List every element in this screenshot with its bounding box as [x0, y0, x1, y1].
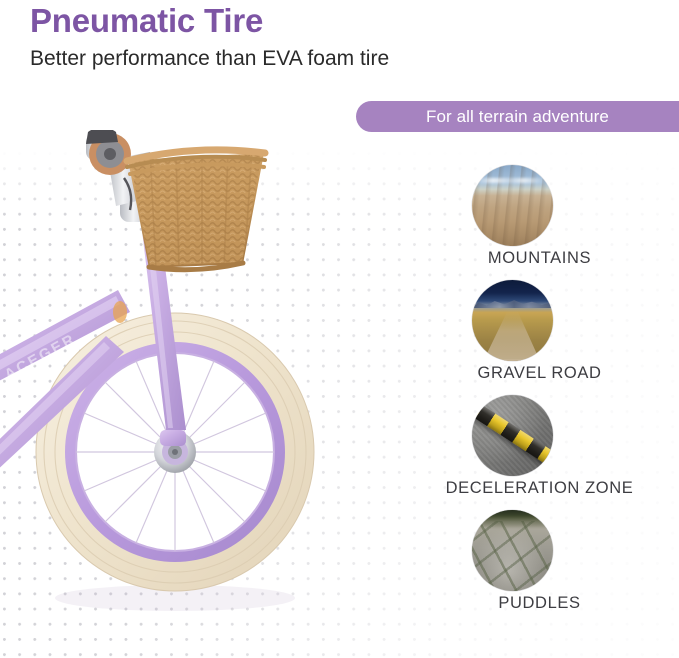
- terrain-label: PUDDLES: [400, 594, 679, 613]
- terrain-item-deceleration-zone[interactable]: DECELERATION ZONE: [400, 395, 679, 510]
- heading-block: Pneumatic Tire Better performance than E…: [30, 2, 650, 71]
- terrain-item-puddles[interactable]: PUDDLES: [400, 510, 679, 625]
- terrain-item-mountains[interactable]: MOUNTAINS: [400, 165, 679, 280]
- deceleration-zone-thumbnail-icon: [472, 395, 553, 476]
- terrain-label: MOUNTAINS: [400, 249, 679, 268]
- puddles-thumbnail-icon: [472, 510, 553, 591]
- terrain-label: GRAVEL ROAD: [400, 364, 679, 383]
- product-feature-panel: Pneumatic Tire Better performance than E…: [0, 0, 679, 658]
- terrain-label: DECELERATION ZONE: [400, 479, 679, 498]
- gravel-road-thumbnail-icon: [472, 280, 553, 361]
- mountains-thumbnail-icon: [472, 165, 553, 246]
- bicycle-illustration: ACEGER: [0, 130, 350, 630]
- page-title: Pneumatic Tire: [30, 2, 650, 40]
- terrain-item-gravel-road[interactable]: GRAVEL ROAD: [400, 280, 679, 395]
- terrain-list: MOUNTAINS GRAVEL ROAD DECELERATION ZONE …: [400, 165, 679, 625]
- all-terrain-badge: [356, 101, 679, 132]
- page-subtitle: Better performance than EVA foam tire: [30, 46, 650, 71]
- front-wicker-basket: [120, 148, 280, 278]
